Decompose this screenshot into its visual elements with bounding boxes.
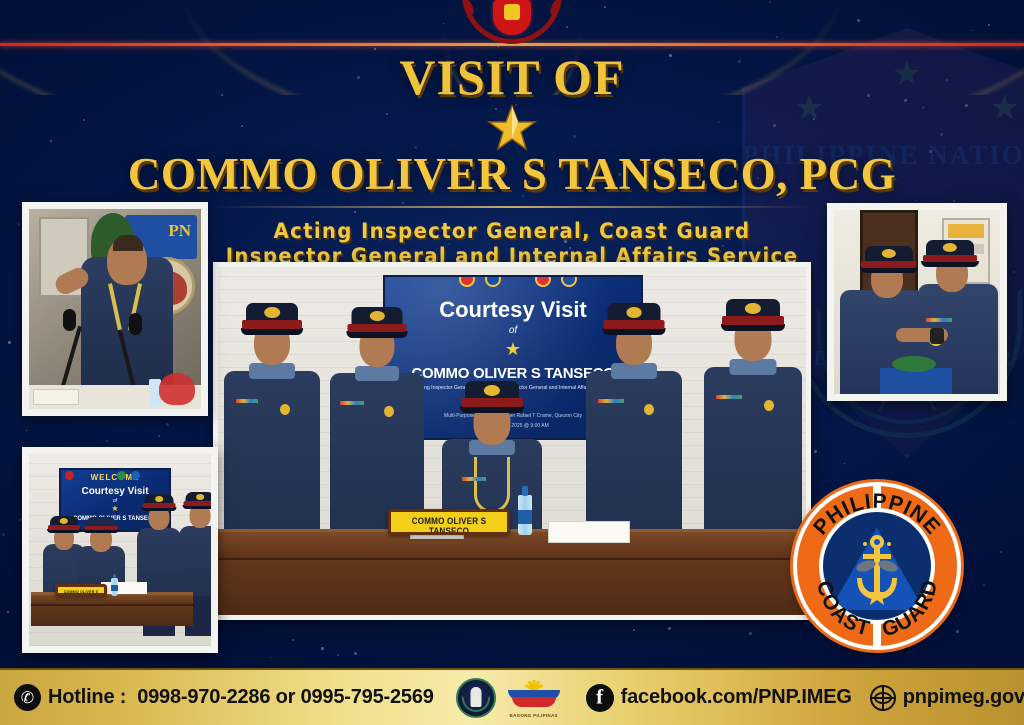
- website-url[interactable]: pnpimeg.gov.ph: [903, 686, 1024, 709]
- phone-icon: ✆: [14, 684, 41, 711]
- facebook-icon[interactable]: [586, 684, 614, 712]
- hotline-label: Hotline :: [48, 686, 126, 709]
- title-divider: [212, 206, 812, 208]
- facebook-group[interactable]: facebook.com/PNP.IMEG: [586, 684, 852, 712]
- hotline-group: ✆ Hotline : 0998-970-2286 or 0995-795-25…: [14, 684, 434, 711]
- officer-speaking-photo: PN: [22, 202, 208, 416]
- signing-nameplate: COMMO OLIVER S TANSECO: [55, 584, 107, 596]
- footer-bar: ✆ Hotline : 0998-970-2286 or 0995-795-25…: [0, 668, 1024, 725]
- document-signing-photo: WELCOME Courtesy Visit of ★ COMMO OLIVER…: [22, 447, 218, 653]
- desk-nameplate: COMMO OLIVER S TANSECO PCG, CG-IAS: [388, 509, 510, 535]
- svg-text:GUARD: GUARD: [880, 577, 943, 641]
- gold-star-icon: [0, 104, 1024, 152]
- facebook-url[interactable]: facebook.com/PNP.IMEG: [621, 686, 852, 709]
- philippine-coast-guard-emblem: PHILIPPINE COAST GUARD: [793, 482, 961, 650]
- page-title: VISIT OF: [0, 48, 1024, 106]
- water-bottle: [518, 495, 532, 535]
- globe-icon[interactable]: [870, 685, 896, 711]
- nameplate-name: COMMO OLIVER S TANSECO: [397, 516, 501, 535]
- pcg-emblem-text: PHILIPPINE COAST GUARD: [793, 482, 961, 650]
- poster-canvas: ★ ★ ★ PHILIPPINE NATIONAL POLICE SERVICE…: [0, 0, 1024, 725]
- bagong-pilipinas-icon: BAGONG PILIPINAS: [504, 678, 564, 718]
- website-group[interactable]: pnpimeg.gov.ph: [870, 685, 1024, 711]
- banner-welcome: WELCOME: [61, 473, 169, 482]
- pnp-imeg-seal-icon: [456, 678, 496, 718]
- bagong-pilipinas-label: BAGONG PILIPINAS: [504, 713, 564, 718]
- page-subtitle-name: COMMO OLIVER S TANSECO, PCG: [0, 148, 1024, 200]
- main-group-photo: Courtesy Visit of ★ COMMO OLIVER S TANSE…: [213, 262, 811, 620]
- conference-desk: [218, 529, 806, 615]
- hotline-numbers: 0998-970-2286 or 0995-795-2569: [137, 686, 433, 709]
- svg-text:COAST: COAST: [812, 579, 873, 641]
- pnp-seal-icon: [460, 0, 564, 44]
- svg-text:PHILIPPINE: PHILIPPINE: [809, 490, 945, 540]
- open-book: [548, 521, 630, 543]
- handshake-photo: [827, 203, 1007, 401]
